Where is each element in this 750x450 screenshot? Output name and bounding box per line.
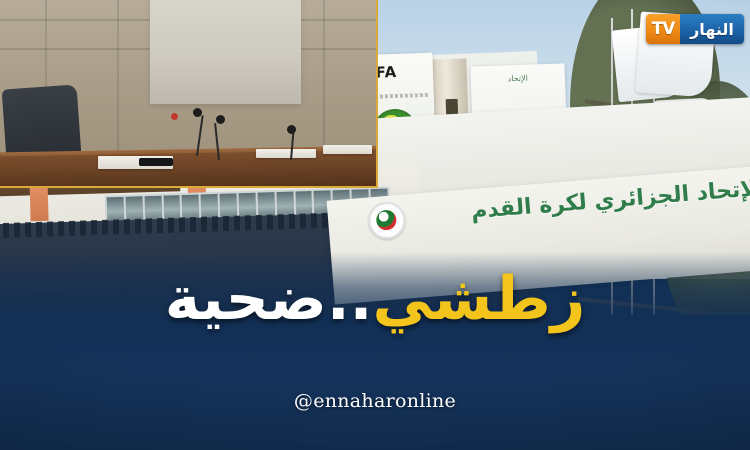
microphone-head <box>287 125 296 134</box>
paper-document <box>323 145 372 154</box>
social-handle[interactable]: @ennaharonline <box>0 390 750 412</box>
headline: زطشي..ضحية <box>0 266 750 332</box>
logo-tv-badge: TV <box>646 14 680 44</box>
ennahar-tv-logo[interactable]: TV النهار <box>646 14 744 44</box>
paper-document <box>256 149 316 158</box>
headline-part-name: زطشي <box>372 264 585 334</box>
notebook <box>139 158 173 165</box>
microphone-head <box>193 108 202 117</box>
headline-separator: .. <box>327 264 373 334</box>
logo-channel-name: النهار <box>680 14 744 44</box>
conference-table <box>0 149 378 188</box>
projection-screen <box>150 0 300 104</box>
headline-part-predicate: ضحية <box>165 264 327 334</box>
empty-chair <box>1 85 81 161</box>
news-card: FIFA CAF الإتحاد لكرة القدم الإتحاد الجز… <box>0 0 750 450</box>
inset-photo-press-conference <box>0 0 378 188</box>
